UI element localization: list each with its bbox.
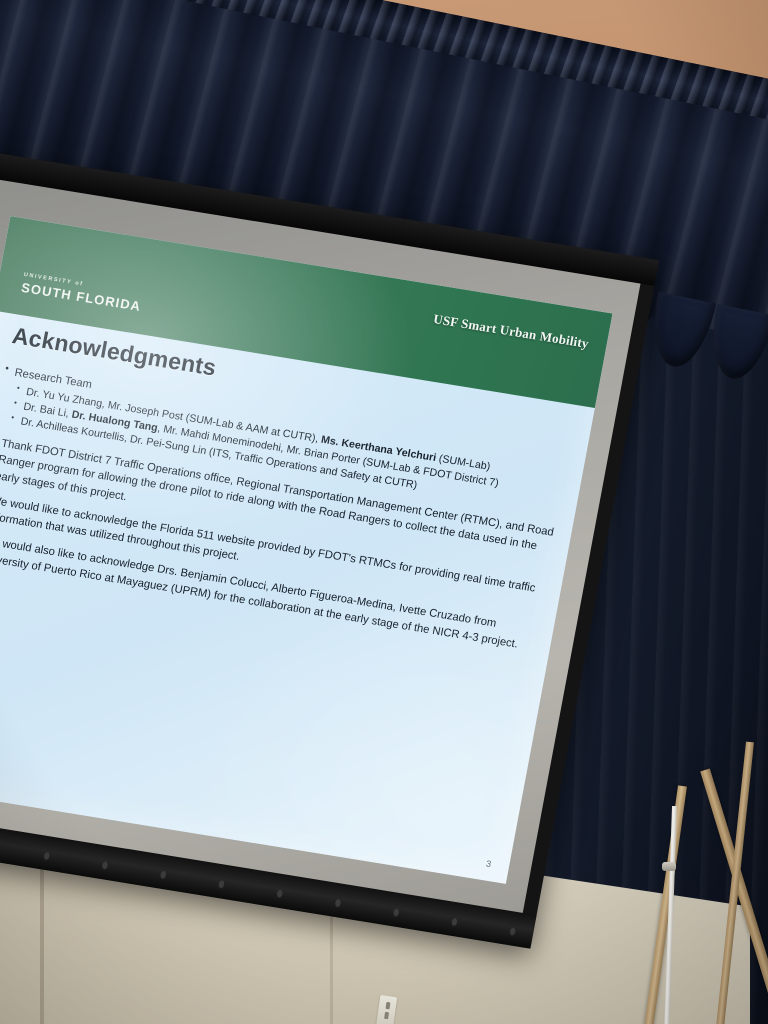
wall-outlet-plate (376, 995, 397, 1024)
slide-page-number: 3 (485, 859, 492, 870)
presentation-slide: USF Smart Urban Mobility UNIVERSITY of S… (0, 216, 613, 884)
slide-brand-title: USF Smart Urban Mobility (432, 311, 590, 352)
slide-bullet-list: Research TeamDr. Yu Yu Zhang, Mr. Joseph… (0, 363, 572, 658)
usf-logo: UNIVERSITY of SOUTH FLORIDA (20, 273, 143, 313)
easel-adjust-knob (662, 862, 676, 871)
photo-scene: USF Smart Urban Mobility UNIVERSITY of S… (0, 0, 768, 1024)
